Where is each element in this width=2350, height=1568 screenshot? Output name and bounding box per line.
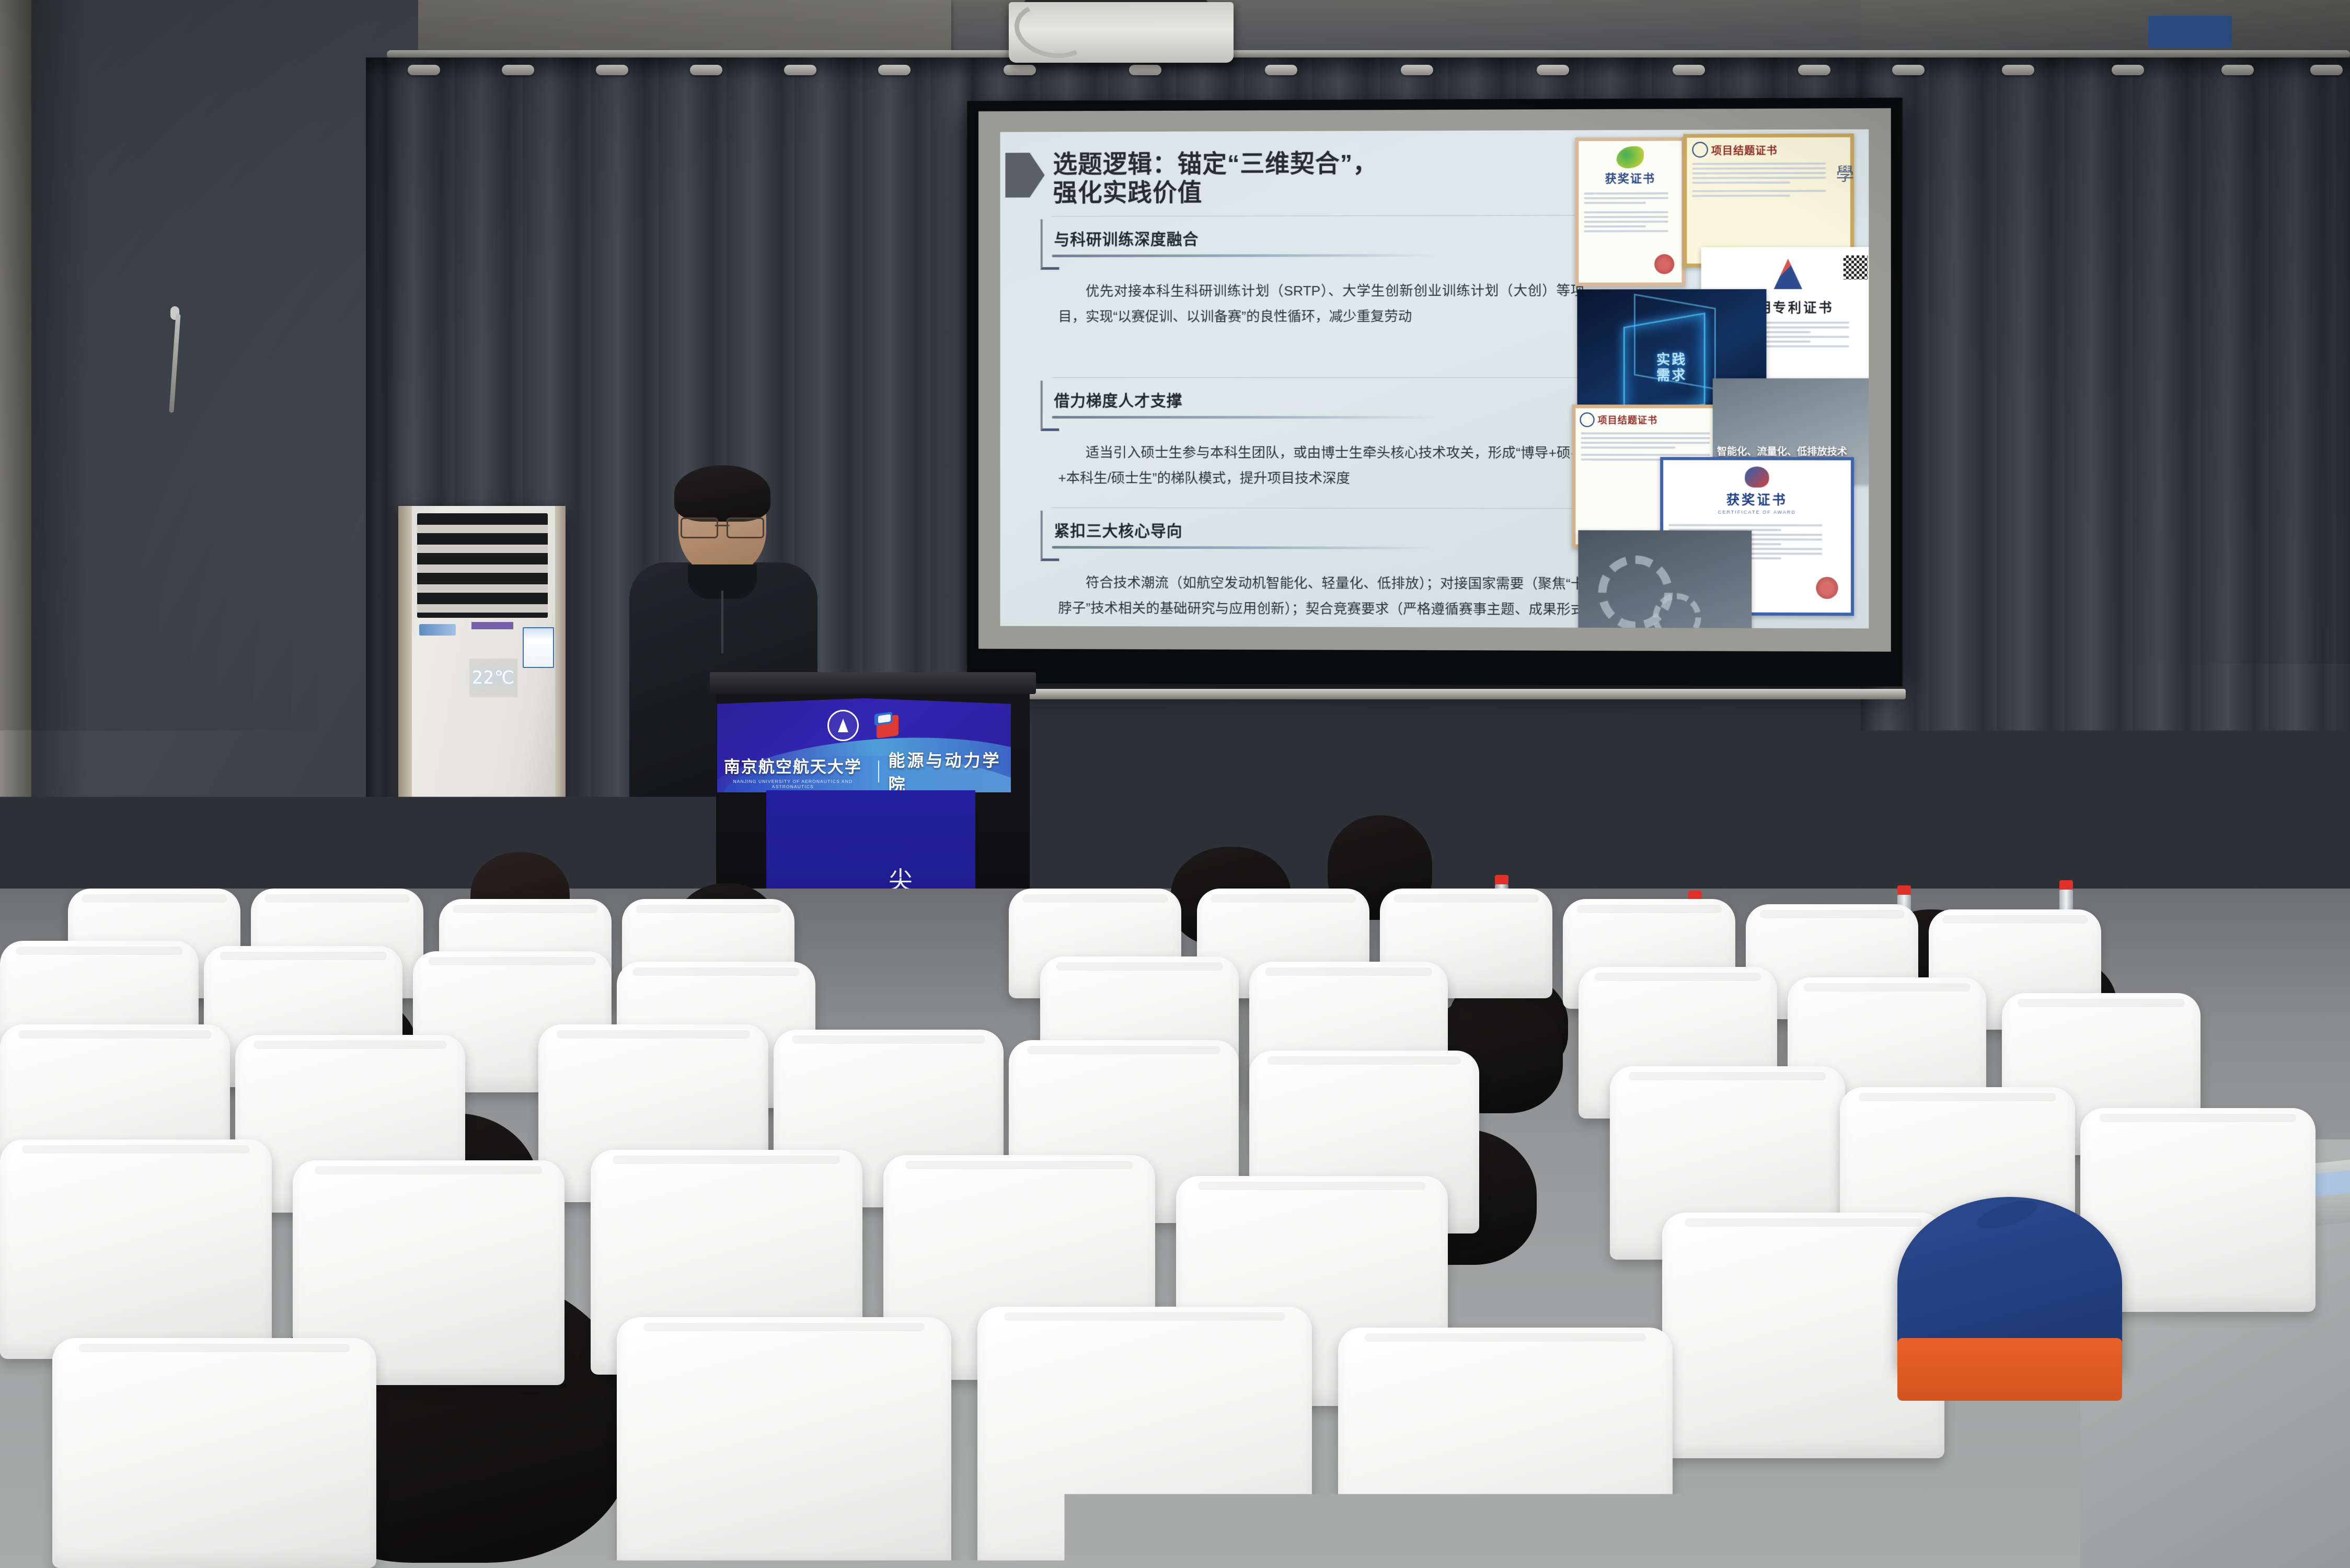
ac-side-left (398, 506, 412, 914)
lecture-hall-scene: 选题逻辑：锚定“三维契合”， 强化实践价值 与科研训练深度融合 优先对接本科生科… (0, 0, 2350, 1568)
podium-banner: 南京航空航天大学 NANJING UNIVERSITY OF AERONAUTI… (717, 698, 1011, 792)
beanie-knot (1974, 1195, 2040, 1234)
bracket-icon (1041, 381, 1059, 431)
slide-section-heading-1: 与科研训练深度融合 (1048, 225, 1590, 257)
slide-section-heading-3: 紧扣三大核心导向 (1048, 518, 1590, 550)
chair[interactable] (52, 1338, 376, 1568)
section-2-label: 借力梯度人才支撑 (1048, 388, 1590, 411)
university-seal-icon (827, 710, 859, 741)
bracket-icon (1041, 220, 1059, 270)
banner-divider (878, 760, 879, 782)
award-certificate-1: 获奖证书 (1575, 137, 1685, 286)
university-name-en: NANJING UNIVERSITY OF AERONAUTICS AND AS… (717, 779, 869, 789)
college-name-cn: 能源与动力学院 (889, 747, 1011, 792)
chair[interactable] (0, 1139, 272, 1359)
air-conditioner[interactable]: 22℃ (398, 506, 566, 914)
red-seal-icon (1654, 254, 1674, 274)
ac-side-right (555, 506, 566, 914)
title-arrow-icon (1005, 153, 1044, 198)
award-logo-icon (1745, 467, 1769, 488)
section-3-rule (1052, 546, 1437, 549)
certificate-collage: 获奖证书 项目结题证书 (1572, 131, 1869, 628)
red-seal-icon (1816, 577, 1838, 599)
qr-code-icon (1844, 256, 1868, 280)
audience-beanie-hat (1897, 1197, 2122, 1369)
slide-title-banner: 选题逻辑：锚定“三维契合”， 强化实践价值 (1005, 148, 1557, 149)
bracket-icon (1041, 511, 1059, 561)
ac-temperature-value: 22℃ (472, 667, 515, 688)
award-certificate-2-subtitle: CERTIFICATE OF AWARD (1663, 510, 1851, 515)
ac-sticker (471, 622, 513, 629)
curtain-rail-left (0, 0, 31, 920)
project-certificate-1-title: 项目结题证书 (1711, 142, 1778, 157)
projection-screen: 选题逻辑：锚定“三维契合”， 强化实践价值 与科研训练深度融合 优先对接本科生科… (967, 98, 1903, 686)
award-certificate-2-title: 获奖证书 (1663, 490, 1851, 509)
chair[interactable] (977, 1307, 1312, 1568)
university-mark: 學 (1836, 160, 1854, 186)
section-2-rule (1052, 416, 1437, 419)
ac-energy-label (523, 627, 554, 668)
ac-vents (417, 513, 548, 618)
university-seal-icon (1692, 142, 1708, 157)
book-logo-icon (873, 712, 901, 739)
section-2-body: 适当引入硕士生参与本科生团队，或由博士生牵头核心技术攻关，形成“博导+硕导+本科… (1058, 440, 1584, 492)
graphic-gears-image (1578, 530, 1752, 628)
screen-bottom-bar (960, 689, 1906, 699)
patent-logo-icon (1774, 259, 1802, 289)
podium-banner-text: 南京航空航天大学 NANJING UNIVERSITY OF AERONAUTI… (717, 747, 1011, 792)
university-seal-icon (1580, 412, 1594, 427)
university-name-cn: 南京航空航天大学 (717, 754, 869, 777)
speaker-zipper (721, 591, 723, 653)
chair[interactable] (617, 1317, 951, 1568)
award-certificate-1-title: 获奖证书 (1579, 169, 1681, 187)
projector-ports (2148, 16, 2232, 48)
slide-title: 选题逻辑：锚定“三维契合”， 强化实践价值 (1053, 148, 1543, 207)
podium-top-surface (710, 672, 1036, 694)
speaker-hair (674, 465, 770, 522)
ac-display: 22℃ (469, 659, 517, 697)
slide-section-heading-2: 借力梯度人才支撑 (1048, 388, 1590, 419)
beanie-band (1897, 1338, 2122, 1401)
ac-brand-logo (419, 624, 456, 636)
presentation-slide: 选题逻辑：锚定“三维契合”， 强化实践价值 与科研训练深度融合 优先对接本科生科… (1000, 129, 1869, 628)
podium-logos (717, 710, 1011, 741)
section-1-body: 优先对接本科生科研训练计划（SRTP）、大学生创新创业训练计划（大创）等项目，实… (1058, 278, 1584, 330)
section-1-label: 与科研训练深度融合 (1048, 225, 1590, 249)
section-3-body: 符合技术潮流（如航空发动机智能化、轻量化、低排放）；对接国家需要（聚焦“卡脖子”… (1058, 570, 1584, 628)
section-3-label: 紧扣三大核心导向 (1048, 518, 1590, 542)
glasses-icon (681, 517, 764, 535)
chair[interactable] (1338, 1328, 1673, 1568)
face-mask (1913, 1474, 2070, 1568)
flame-logo-icon (1617, 146, 1644, 168)
project-certificate-2-title: 项目结题证书 (1598, 413, 1658, 426)
section-1-rule (1052, 254, 1437, 257)
